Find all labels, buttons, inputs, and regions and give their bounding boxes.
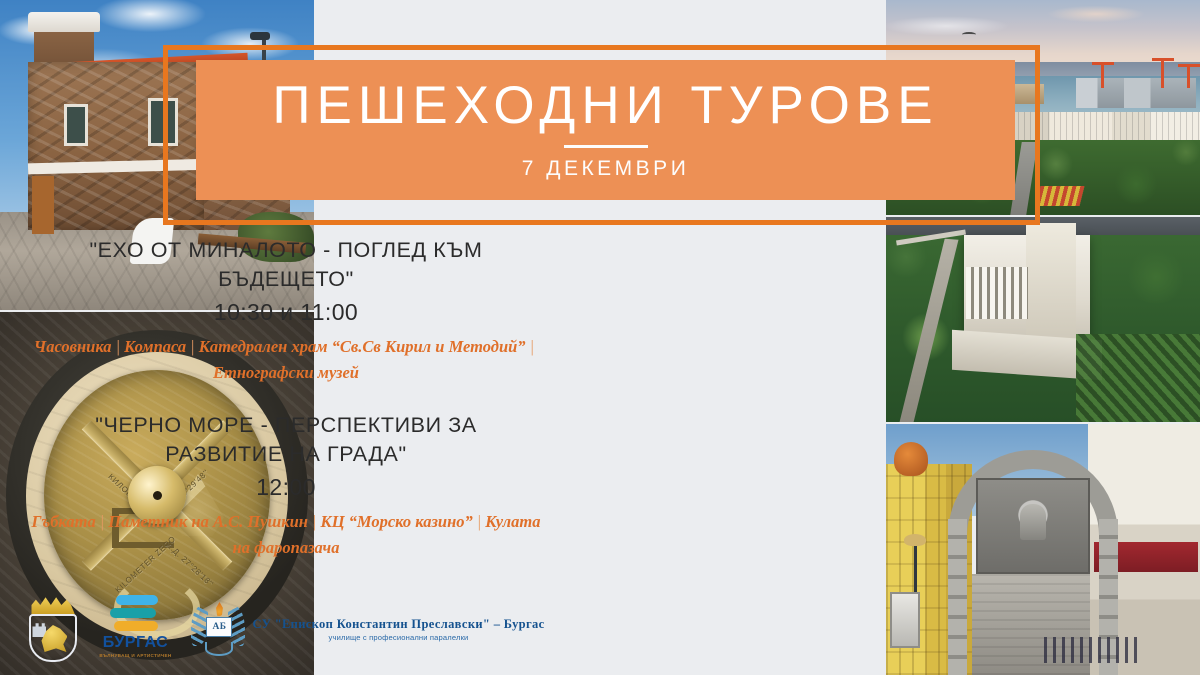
tour-title: "ЕХО ОТ МИНАЛОТО - ПОГЛЕД КЪМ БЪДЕЩЕТО" [6,236,566,294]
port-crane [1187,64,1190,88]
stop-separator: | [112,337,125,356]
tour-title: "ЧЕРНО МОРЕ - ПЕРСПЕКТИВИ ЗА РАЗВИТИЕ НА… [6,411,566,469]
tour-stops: Часовника|Компаса|Катедрален храм “Св.Св… [6,334,566,385]
page-title: ПЕШЕХОДНИ ТУРОВЕ [272,79,938,133]
tour-stop: Паметник на А.С. Пушкин [108,512,308,531]
school-name: СУ "Епископ Константин Преславски" – Бур… [252,617,544,632]
tour-item: "ЕХО ОТ МИНАЛОТО - ПОГЛЕД КЪМ БЪДЕЩЕТО" … [6,236,566,385]
school-subtitle: училище с професионални паралелки [252,633,544,642]
crown-icon [31,596,75,616]
school-emblem-icon: АБ [191,600,245,658]
tour-stop: Компаса [124,337,186,356]
stop-separator: | [526,337,539,356]
info-kiosk [890,592,920,648]
commemorative-arch [948,450,1118,675]
casino-tower-block [1026,223,1076,347]
school-logo: АБ СУ "Епископ Константин Преславски" – … [191,600,544,658]
window [64,104,88,146]
tour-stop: КЦ “Морско казино” [321,512,473,531]
port-warehouses [1076,78,1196,108]
turret-parapet [28,12,100,32]
tour-stops: Гъбката|Паметник на А.С. Пушкин|КЦ “Морс… [6,509,566,560]
tour-list: "ЕХО ОТ МИНАЛОТО - ПОГЛЕД КЪМ БЪДЕЩЕТО" … [0,236,572,560]
port-crane [1101,62,1104,88]
stop-separator: | [96,512,109,531]
pedestrian-crowd [1044,637,1140,663]
tour-stop: Часовника [34,337,112,356]
brand-tagline: ВЪЛНУВАЩ И АРТИСТИЧЕН [95,653,175,658]
school-text-block: СУ "Епископ Константин Преславски" – Бур… [252,617,544,642]
tour-stop: Катедрален храм “Св.Св Кирил и Методий” [199,337,526,356]
wave-bar [114,621,158,631]
school-monogram: АБ [213,622,227,632]
port-crane [1161,58,1164,88]
brand-wave-mark-icon [108,595,162,633]
casino-colonnade [966,267,1028,319]
tour-stop: Гъбката [32,512,96,531]
saint-nicholas-icon-relief [976,478,1090,574]
burgas-city-brand-logo: БУРГАС ВЪЛНУВАЩ И АРТИСТИЧЕН [95,595,175,663]
flower-beds [1036,186,1085,206]
logo-strip: БУРГАС ВЪЛНУВАЩ И АРТИСТИЧЕН АБ СУ "Епис… [0,591,572,667]
photo-sea-casino-cultural-centre [886,217,1200,422]
event-date: 7 ДЕКЕМВРИ [522,157,690,181]
flame-icon [214,602,224,616]
photo-saint-nicholas-arch-pedestrian-street [886,424,1200,675]
monogram-tile: АБ [206,617,232,637]
tour-time: 12:00 [6,474,566,501]
stop-separator: | [473,512,486,531]
poster-canvas: КИЛОМЕТЪР KILOMETER ZERO С.Ш. 42°29'48''… [0,0,1200,675]
stop-separator: | [186,337,199,356]
burgas-coat-of-arms-logo [27,596,79,662]
orange-cupola [894,442,928,476]
title-banner: ПЕШЕХОДНИ ТУРОВЕ 7 ДЕКЕМВРИ [196,60,1015,200]
tour-item: "ЧЕРНО МОРЕ - ПЕРСПЕКТИВИ ЗА РАЗВИТИЕ НА… [6,411,566,560]
brand-name: БУРГАС [95,635,175,651]
wave-bar [110,608,156,618]
wave-bar [116,595,158,605]
stop-separator: | [308,512,321,531]
seagull-icon [962,32,976,37]
arch-pillar [948,519,967,675]
tour-time: 10:30 и 11:00 [6,299,566,326]
open-book-icon [205,642,233,656]
title-divider [564,145,648,148]
wooden-door [32,176,54,234]
tour-stop: Етнографски музей [213,363,359,382]
trimmed-hedge-maze [1076,334,1200,422]
